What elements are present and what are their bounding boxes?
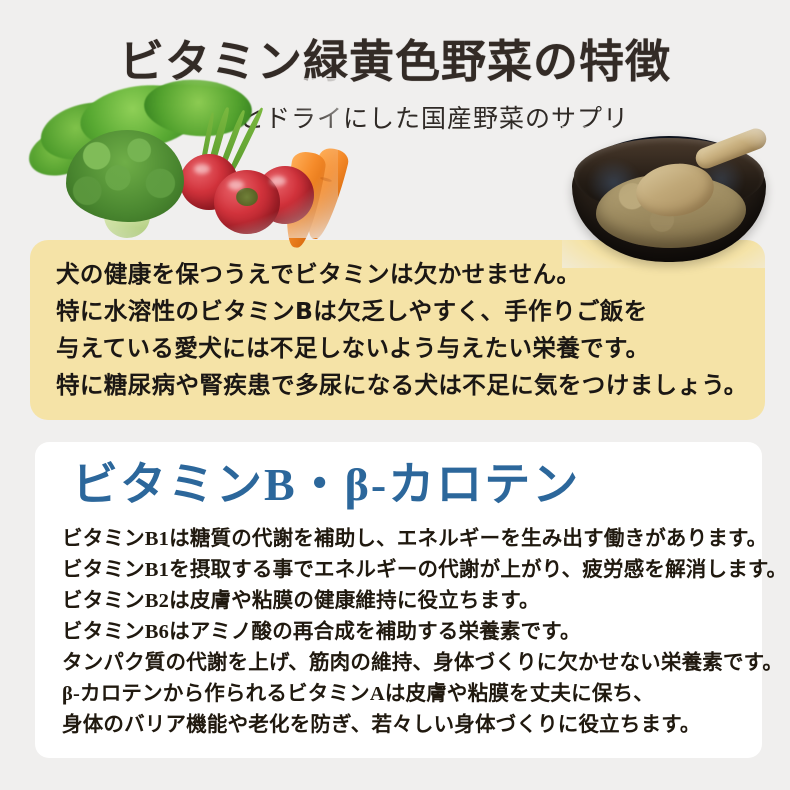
body-line: タンパク質の代謝を上げ、筋肉の維持、身体づくりに欠かせない栄養素です。: [62, 648, 742, 679]
body-line: 身体のバリア機能や老化を防ぎ、若々しい身体づくりに役立ちます。: [62, 710, 742, 741]
tomato-highlight: [270, 176, 286, 186]
bowl-with-powder-photo: [562, 126, 778, 268]
body-line: ビタミンB1は糖質の代謝を補助し、エネルギーを生み出す働きがあります。: [62, 524, 742, 555]
callout-line: 特に糖尿病や腎疾患で多尿になる犬は不足に気をつけましょう。: [56, 367, 746, 404]
callout-line: 与えている愛犬には不足しないよう与えたい栄養です。: [56, 330, 746, 367]
tomato-highlight: [228, 180, 244, 190]
card-body-text: ビタミンB1は糖質の代謝を補助し、エネルギーを生み出す働きがあります。 ビタミン…: [62, 524, 742, 741]
callout-text: 犬の健康を保つうえでビタミンは欠かせません。 特に水溶性のビタミンBは欠乏しやす…: [56, 256, 746, 404]
callout-line: 特に水溶性のビタミンBは欠乏しやすく、手作りご飯を: [56, 293, 746, 330]
body-line: β-カロテンから作られるビタミンAは皮膚や粘膜を丈夫に保ち、: [62, 679, 742, 710]
infographic-page: ビタミン緑黄色野菜の特徴 ギュっとドライにした国産野菜のサプリ 犬の健康を保つう…: [0, 0, 790, 790]
fresh-vegetables-photo: [18, 78, 338, 238]
body-line: ビタミンB1を摂取する事でエネルギーの代謝が上がり、疲労感を解消します。: [62, 555, 742, 586]
tomato-highlight: [194, 164, 210, 174]
content-card: ビタミンB・β-カロテン ビタミンB1は糖質の代謝を補助し、エネルギーを生み出す…: [35, 442, 762, 758]
card-heading: ビタミンB・β-カロテン: [72, 456, 580, 514]
body-line: ビタミンB6はアミノ酸の再合成を補助する栄養素です。: [62, 617, 742, 648]
body-line: ビタミンB2は皮膚や粘膜の健康維持に役立ちます。: [62, 586, 742, 617]
tomato-calyx: [236, 188, 258, 206]
